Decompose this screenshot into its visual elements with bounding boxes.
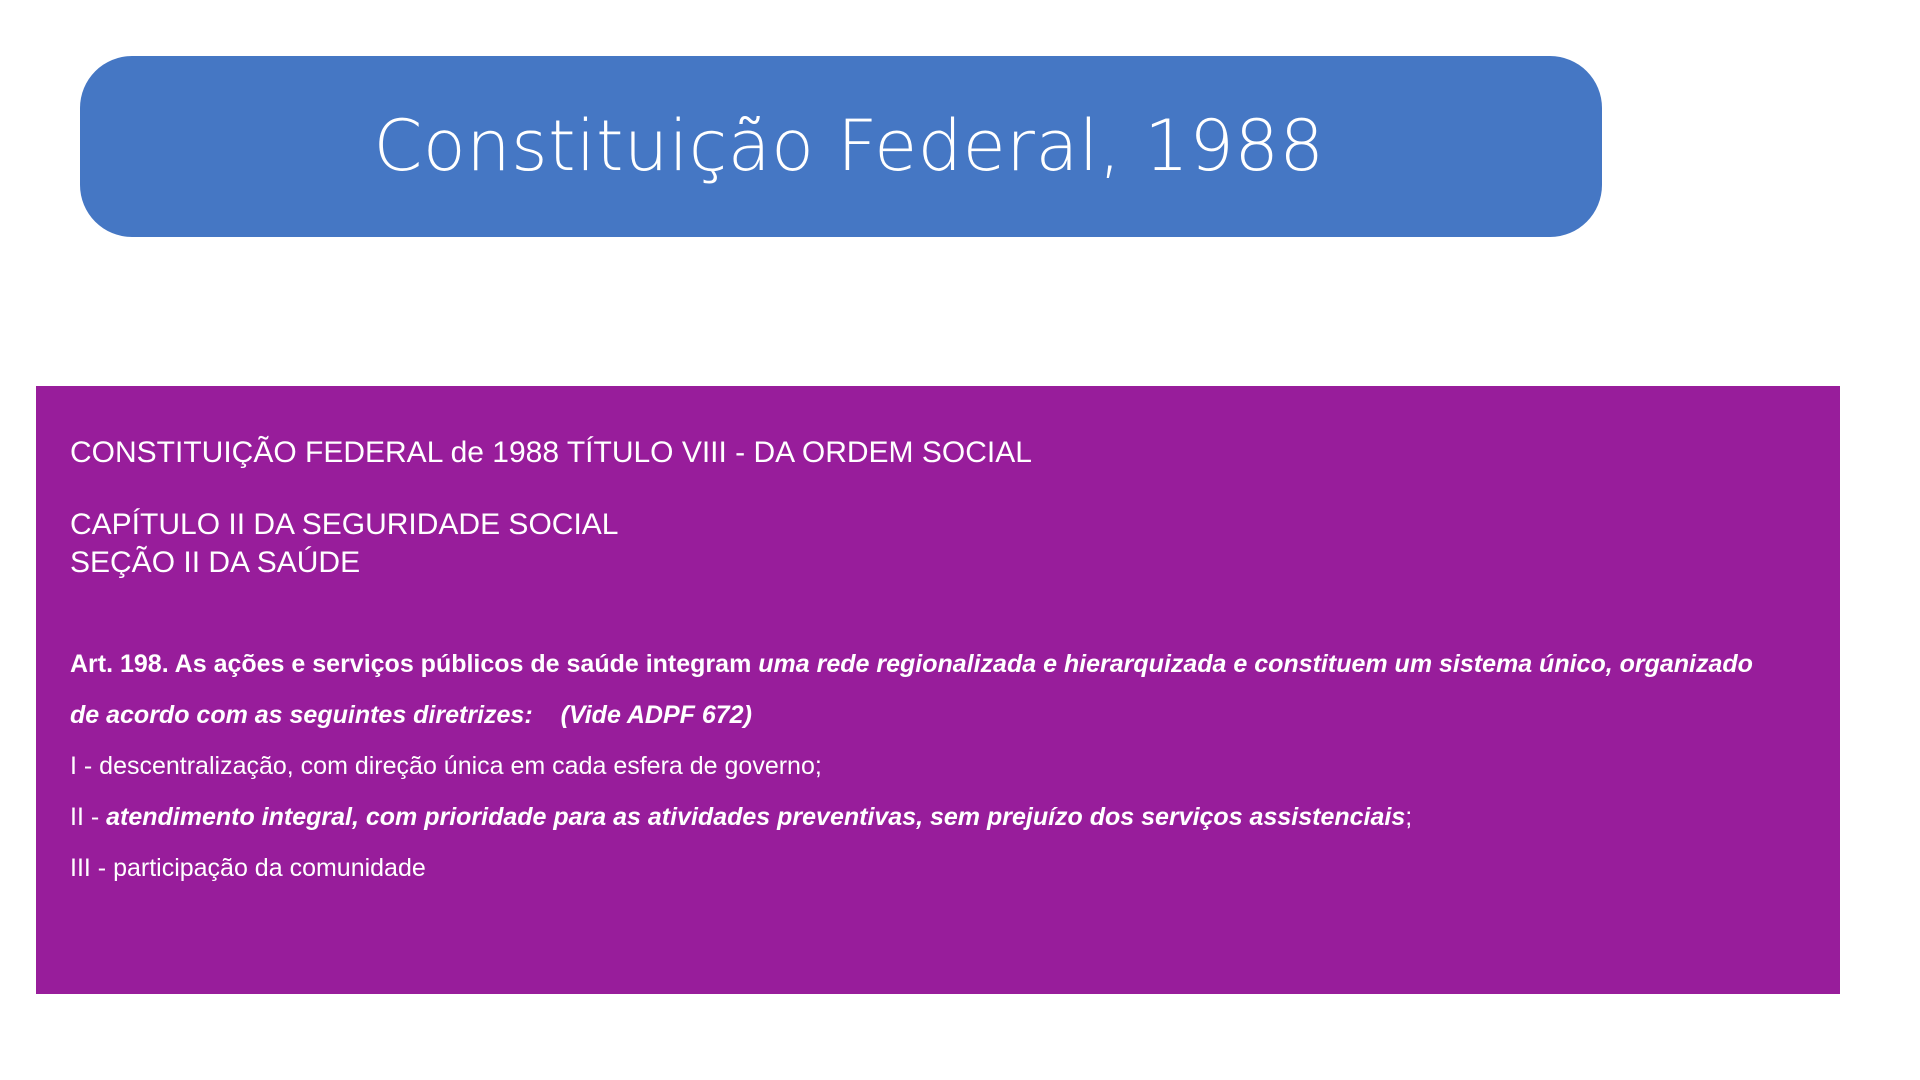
diretriz-i-prefix: I - [70, 752, 99, 780]
diretriz-iii-text: participação da comunidade [113, 854, 426, 882]
diretriz-item-i: I - descentralização, com direção única … [70, 754, 1800, 779]
heading-capitulo: CAPÍTULO II DA SEGURIDADE SOCIAL [70, 510, 1800, 540]
page-title: Constituição Federal, 1988 [374, 108, 1325, 185]
heading-spacer [70, 468, 1800, 510]
diretriz-ii-prefix: II - [70, 803, 106, 831]
heading-constitution-title: CONSTITUIÇÃO FEDERAL de 1988 TÍTULO VIII… [70, 438, 1800, 468]
article-198-reference: (Vide ADPF 672) [561, 701, 752, 729]
heading-secao: SEÇÃO II DA SAÚDE [70, 548, 1800, 578]
diretriz-ii-suffix: ; [1405, 803, 1412, 831]
diretriz-item-ii: II - atendimento integral, com prioridad… [70, 805, 1800, 830]
diretriz-iii-prefix: III - [70, 854, 113, 882]
diretriz-i-text: descentralização, com direção única em c… [99, 752, 822, 780]
diretriz-ii-text: atendimento integral, com prioridade par… [106, 803, 1405, 831]
article-198-line-2: de acordo com as seguintes diretrizes:(V… [70, 703, 1800, 728]
article-198-label: Art. 198. As ações e serviços públicos d… [70, 650, 758, 678]
diretriz-item-iii: III - participação da comunidade [70, 856, 1800, 881]
article-198-line-1: Art. 198. As ações e serviços públicos d… [70, 652, 1800, 677]
body-spacer [70, 578, 1800, 652]
article-198-emphasis-1: uma rede regionalizada e hierarquizada e… [758, 650, 1753, 678]
title-banner: Constituição Federal, 1988 [80, 56, 1602, 237]
article-198-emphasis-2: de acordo com as seguintes diretrizes: [70, 701, 533, 729]
content-panel: CONSTITUIÇÃO FEDERAL de 1988 TÍTULO VIII… [36, 386, 1840, 994]
